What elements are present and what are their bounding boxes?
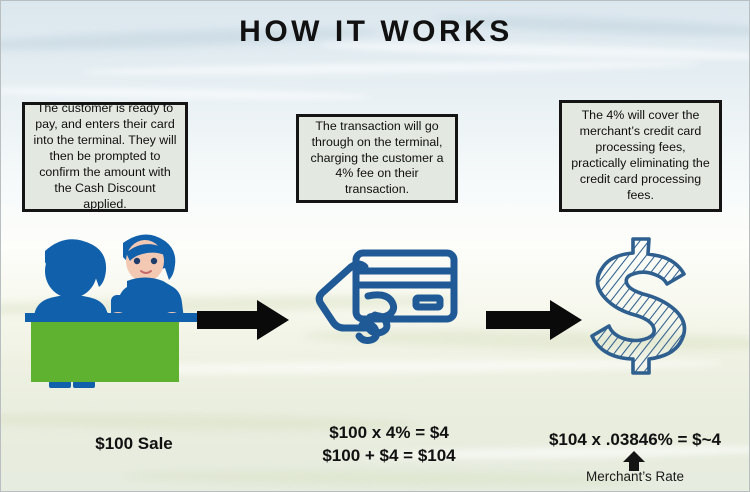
page-title: HOW IT WORKS [1,15,750,49]
callout-step-1-text: The customer is ready to pay, and enters… [33,101,177,212]
people-at-counter-icon [23,223,203,388]
callout-step-3: The 4% will cover the merchant’s credit … [559,100,722,212]
right-arrow-icon [197,300,289,340]
how-it-works-infographic: HOW IT WORKS The customer is ready to pa… [0,0,750,492]
background-wisp [0,86,371,102]
caption-left: $100 Sale [19,433,249,456]
merchant-rate-label: Merchant’s Rate [521,469,749,484]
callout-step-1: The customer is ready to pay, and enters… [22,102,188,212]
callout-step-3-text: The 4% will cover the merchant’s credit … [570,108,711,203]
hand-credit-card-icon [306,241,466,359]
right-arrow-icon [486,300,582,340]
caption-right: $104 x .03846% = $~4 [521,429,749,452]
dollar-sign-icon [589,237,694,395]
callout-step-2: The transaction will go through on the t… [296,114,458,203]
background-wisp [81,59,701,78]
up-arrow-icon [623,451,645,471]
callout-step-2-text: The transaction will go through on the t… [307,119,447,198]
caption-middle: $100 x 4% = $4 $100 + $4 = $104 [289,422,489,468]
